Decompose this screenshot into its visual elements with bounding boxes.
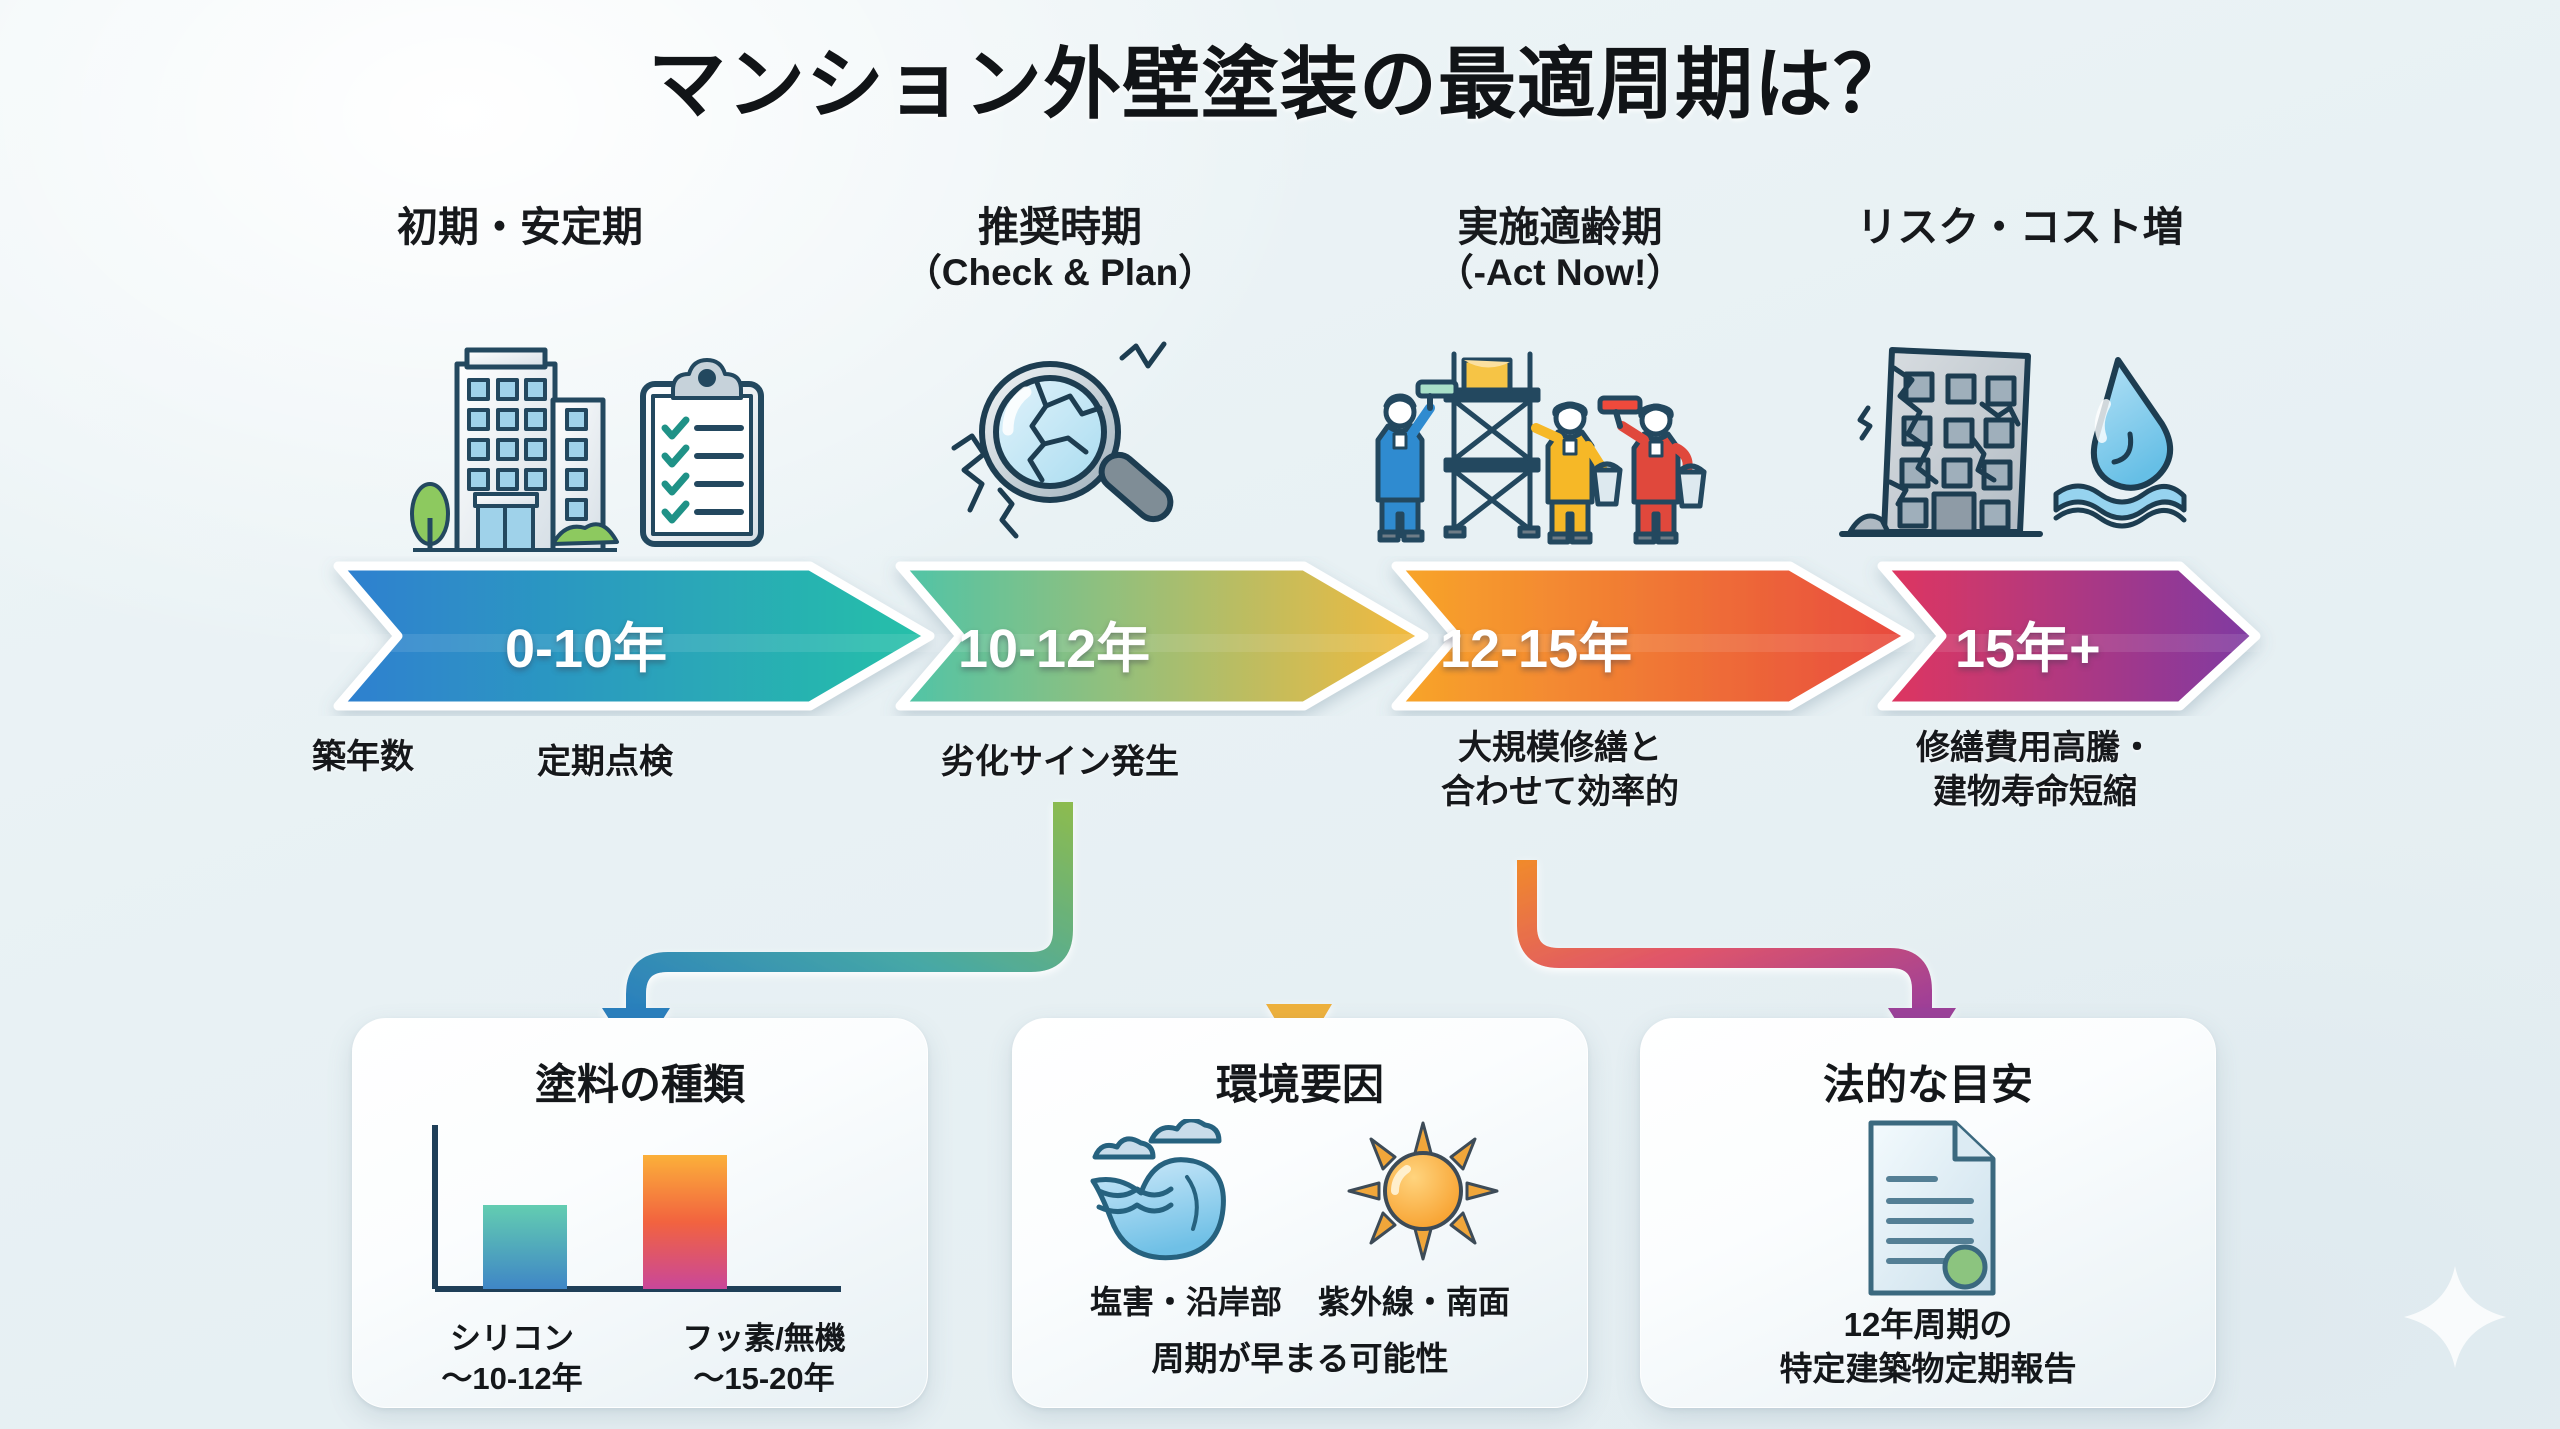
card-footer-line2: 特定建築物定期報告 — [1641, 1347, 2215, 1391]
document-with-seal-icon — [1863, 1117, 2003, 1299]
chevron-label-3: 15年+ — [1955, 604, 2101, 683]
magnifier-over-crack-icon — [950, 340, 1250, 555]
phase-under-label-3: 修繕費用高騰・ 建物寿命短縮 — [1845, 726, 2225, 814]
bar-category-labels: シリコン 〜10-12年 フッ素/無機 〜15-20年 — [393, 1319, 893, 1400]
phase-under-label-1: 劣化サイン発生 — [890, 740, 1230, 784]
card-title: 環境要因 — [1013, 1051, 1587, 1112]
phase-icon-0 — [395, 322, 795, 557]
phase-under-label-line2: 合わせて効率的 — [1380, 770, 1740, 814]
chevron-label-2: 12-15年 — [1440, 604, 1632, 683]
card-environment[interactable]: 環境要因 — [1012, 1018, 1588, 1408]
card-footer-line1: 12年周期の — [1641, 1303, 2215, 1347]
environment-item-labels: 塩害・沿岸部 紫外線・南面 — [1029, 1277, 1571, 1323]
chevron-label-1: 10-12年 — [958, 604, 1150, 683]
bar-silicone — [483, 1205, 567, 1289]
phase-heading-ja: 初期・安定期 — [300, 205, 740, 251]
phase-under-label-0: 定期点検 — [470, 740, 740, 784]
environment-label-1: 紫外線・南面 — [1318, 1277, 1510, 1323]
phase-icon-3 — [1832, 342, 2192, 555]
bar-fluorine — [643, 1155, 727, 1289]
phase-heading-0: 初期・安定期 — [300, 205, 740, 251]
phase-under-label-2: 大規模修繕と 合わせて効率的 — [1380, 726, 1740, 814]
phase-heading-ja: 実施適齢期 — [1340, 205, 1780, 251]
phase-heading-en: （-Act Now!） — [1340, 251, 1780, 295]
card-title: 塗料の種類 — [353, 1051, 927, 1112]
sun-icon — [1343, 1119, 1503, 1269]
phase-heading-en: （Check & Plan） — [840, 251, 1280, 295]
chevron-label-0: 0-10年 — [505, 604, 667, 683]
apartment-building-and-checklist-icon — [395, 322, 795, 552]
card-title: 法的な目安 — [1641, 1051, 2215, 1112]
sparkle-icon — [2400, 1262, 2510, 1372]
phase-heading-3: リスク・コスト増 — [1790, 205, 2250, 251]
phase-heading-ja: リスク・コスト増 — [1790, 205, 2250, 251]
phase-under-label-line1: 修繕費用高騰・ — [1845, 726, 2225, 770]
damaged-building-and-water-drop-icon — [1832, 342, 2192, 550]
card-legal[interactable]: 法的な目安 12年周期の 特定建築物定期報告 — [1640, 1018, 2216, 1408]
phase-heading-2: 実施適齢期 （-Act Now!） — [1340, 205, 1780, 295]
phase-icon-1 — [950, 340, 1250, 560]
timeline-arrow-band — [0, 556, 2560, 716]
connector-to-paint-types — [636, 802, 1063, 1015]
phase-heading-ja: 推奨時期 — [840, 205, 1280, 251]
wave-icon — [1075, 1119, 1265, 1269]
bar-label-1: フッ素/無機 〜15-20年 — [659, 1319, 869, 1400]
paint-types-bar-chart — [421, 1119, 861, 1319]
infographic-canvas: マンション外壁塗装の最適周期は？ 初期・安定期 推奨時期 （Check & Pl… — [0, 0, 2560, 1429]
phase-under-label-line2: 建物寿命短縮 — [1845, 770, 2225, 814]
connector-to-legal — [1527, 860, 1922, 1014]
page-title: マンション外壁塗装の最適周期は？ — [0, 22, 2560, 134]
phase-icon-2 — [1372, 342, 1732, 557]
card-paint-types[interactable]: 塗料の種類 シリコン 〜10-12年 フッ素/無機 〜15-20 — [352, 1018, 928, 1408]
bar-label-0: シリコン 〜10-12年 — [417, 1319, 607, 1400]
card-footer: 周期が早まる可能性 — [1013, 1337, 1587, 1381]
phase-heading-1: 推奨時期 （Check & Plan） — [840, 205, 1280, 295]
painters-with-scaffolding-icon — [1372, 342, 1732, 552]
card-footer: 12年周期の 特定建築物定期報告 — [1641, 1303, 2215, 1390]
axis-caption: 築年数 — [278, 735, 448, 779]
phase-under-label-line1: 大規模修繕と — [1380, 726, 1740, 770]
environment-label-0: 塩害・沿岸部 — [1090, 1277, 1282, 1323]
